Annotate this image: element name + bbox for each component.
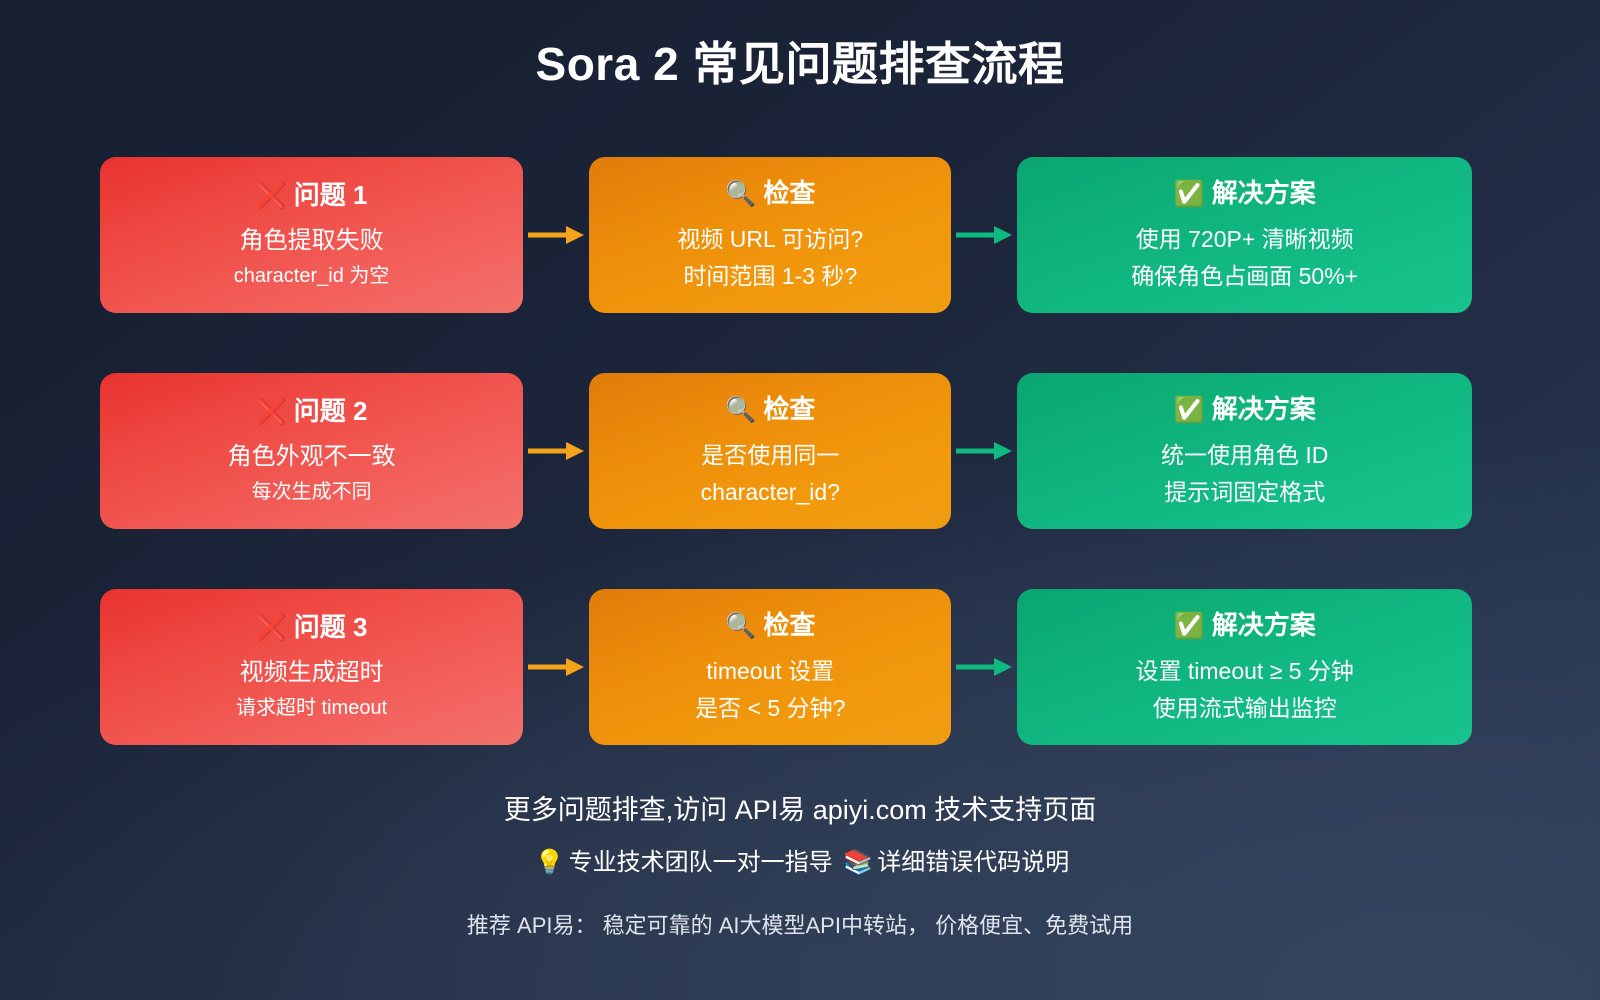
flow-row: ❌问题 3 视频生成超时 请求超时 timeout 🔍检查 timeout 设置…	[100, 589, 1472, 745]
cross-mark-icon: ❌	[256, 614, 287, 642]
page-title: Sora 2 常见问题排查流程	[0, 28, 1600, 94]
solution-card-line-1: 统一使用角色 ID	[1161, 440, 1328, 471]
check-card-heading: 🔍检查	[725, 394, 815, 425]
light-bulb-icon: 💡	[535, 849, 565, 876]
footer-support-line: 更多问题排查,访问 API易 apiyi.com 技术支持页面	[0, 790, 1600, 831]
cross-mark-icon: ❌	[256, 398, 287, 426]
problem-card-line-2: character_id 为空	[234, 263, 390, 290]
solution-card-line-2: 使用流式输出监控	[1153, 693, 1337, 724]
magnifying-glass-icon: 🔍	[725, 180, 756, 208]
problem-card-line-1: 角色提取失败	[240, 225, 384, 257]
cross-mark-icon: ❌	[256, 182, 287, 210]
check-card-title: 检查	[763, 610, 815, 640]
solution-card-line-1: 使用 720P+ 清晰视频	[1136, 224, 1354, 255]
check-mark-button-icon: ✅	[1174, 396, 1205, 424]
check-card-title: 检查	[763, 394, 815, 424]
problem-card-title: 问题 2	[294, 396, 368, 426]
check-card[interactable]: 🔍检查 是否使用同一 character_id?	[589, 373, 951, 529]
arrow-problem-to-check	[523, 157, 589, 313]
solution-card-heading: ✅解决方案	[1174, 394, 1316, 425]
solution-card[interactable]: ✅解决方案 设置 timeout ≥ 5 分钟 使用流式输出监控	[1017, 589, 1472, 745]
problem-card[interactable]: ❌问题 3 视频生成超时 请求超时 timeout	[100, 589, 523, 745]
check-mark-button-icon: ✅	[1174, 180, 1205, 208]
footer-recommend-line: 推荐 API易： 稳定可靠的 AI大模型API中转站， 价格便宜、免费试用	[0, 909, 1600, 942]
problem-card-heading: ❌问题 2	[256, 396, 368, 427]
flow-diagram: ❌问题 1 角色提取失败 character_id 为空 🔍检查 视频 URL …	[100, 157, 1472, 745]
arrow-check-to-solution	[951, 589, 1017, 745]
check-card-line-1: 视频 URL 可访问?	[677, 224, 863, 255]
flow-row: ❌问题 1 角色提取失败 character_id 为空 🔍检查 视频 URL …	[100, 157, 1472, 313]
check-card[interactable]: 🔍检查 视频 URL 可访问? 时间范围 1-3 秒?	[589, 157, 951, 313]
check-card-title: 检查	[763, 178, 815, 208]
problem-card-heading: ❌问题 3	[256, 612, 368, 643]
problem-card-line-1: 角色外观不一致	[228, 441, 396, 473]
problem-card-line-1: 视频生成超时	[240, 657, 384, 689]
check-card[interactable]: 🔍检查 timeout 设置 是否 < 5 分钟?	[589, 589, 951, 745]
solution-card-heading: ✅解决方案	[1174, 610, 1316, 641]
check-card-line-2: character_id?	[701, 477, 840, 508]
problem-card[interactable]: ❌问题 2 角色外观不一致 每次生成不同	[100, 373, 523, 529]
footer: 更多问题排查,访问 API易 apiyi.com 技术支持页面 💡专业技术团队一…	[0, 790, 1600, 942]
check-card-line-1: 是否使用同一	[701, 440, 839, 471]
problem-card-line-2: 每次生成不同	[252, 479, 372, 506]
check-card-line-2: 时间范围 1-3 秒?	[683, 261, 857, 292]
books-icon: 📚	[843, 849, 873, 876]
flow-row: ❌问题 2 角色外观不一致 每次生成不同 🔍检查 是否使用同一 characte…	[100, 373, 1472, 529]
footer-feature-expert: 专业技术团队一对一指导	[569, 849, 833, 876]
solution-card-line-1: 设置 timeout ≥ 5 分钟	[1135, 656, 1353, 687]
solution-card-line-2: 确保角色占画面 50%+	[1131, 261, 1358, 292]
arrow-check-to-solution	[951, 373, 1017, 529]
problem-card-title: 问题 1	[294, 180, 368, 210]
solution-card-line-2: 提示词固定格式	[1164, 477, 1325, 508]
footer-feature-errorcodes: 详细错误代码说明	[877, 849, 1069, 876]
problem-card-heading: ❌问题 1	[256, 180, 368, 211]
check-card-heading: 🔍检查	[725, 178, 815, 209]
magnifying-glass-icon: 🔍	[725, 612, 756, 640]
check-mark-button-icon: ✅	[1174, 612, 1205, 640]
solution-card[interactable]: ✅解决方案 使用 720P+ 清晰视频 确保角色占画面 50%+	[1017, 157, 1472, 313]
problem-card[interactable]: ❌问题 1 角色提取失败 character_id 为空	[100, 157, 523, 313]
problem-card-title: 问题 3	[294, 612, 368, 642]
check-card-line-1: timeout 设置	[706, 656, 834, 687]
check-card-line-2: 是否 < 5 分钟?	[695, 693, 845, 724]
solution-card-title: 解决方案	[1212, 610, 1316, 640]
arrow-problem-to-check	[523, 589, 589, 745]
arrow-check-to-solution	[951, 157, 1017, 313]
check-card-heading: 🔍检查	[725, 610, 815, 641]
solution-card-title: 解决方案	[1212, 394, 1316, 424]
footer-features-line: 💡专业技术团队一对一指导 📚详细错误代码说明	[0, 845, 1600, 881]
arrow-problem-to-check	[523, 373, 589, 529]
solution-card-heading: ✅解决方案	[1174, 178, 1316, 209]
problem-card-line-2: 请求超时 timeout	[236, 695, 387, 722]
solution-card-title: 解决方案	[1212, 178, 1316, 208]
magnifying-glass-icon: 🔍	[725, 396, 756, 424]
solution-card[interactable]: ✅解决方案 统一使用角色 ID 提示词固定格式	[1017, 373, 1472, 529]
